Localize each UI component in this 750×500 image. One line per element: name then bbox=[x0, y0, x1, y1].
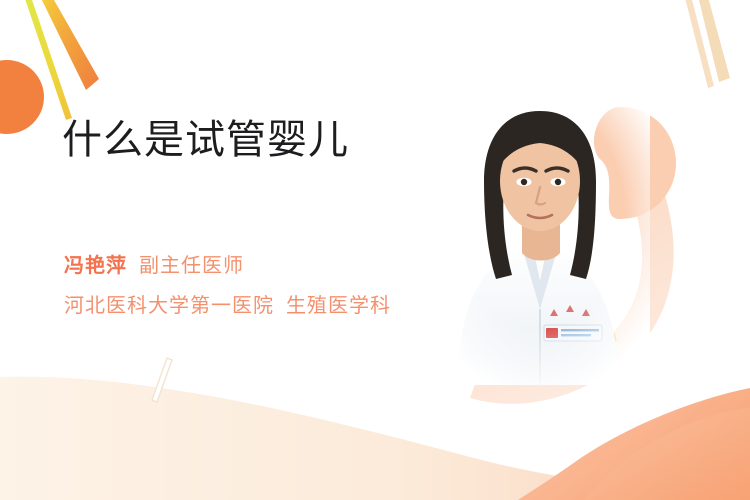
poster-canvas: 什么是试管婴儿 冯艳萍副主任医师 河北医科大学第一医院生殖医学科 bbox=[0, 0, 750, 500]
doctor-affiliation-line: 河北医科大学第一医院生殖医学科 bbox=[64, 289, 391, 318]
doctor-credential-line: 冯艳萍副主任医师 bbox=[64, 249, 244, 278]
page-title: 什么是试管婴儿 bbox=[62, 118, 349, 162]
hospital-name: 河北医科大学第一医院 bbox=[64, 293, 274, 317]
doctor-name: 冯艳萍 bbox=[64, 253, 127, 277]
department-name: 生殖医学科 bbox=[286, 293, 391, 317]
text-layer: 什么是试管婴儿 冯艳萍副主任医师 河北医科大学第一医院生殖医学科 bbox=[0, 0, 750, 500]
doctor-job-title: 副主任医师 bbox=[139, 253, 244, 277]
